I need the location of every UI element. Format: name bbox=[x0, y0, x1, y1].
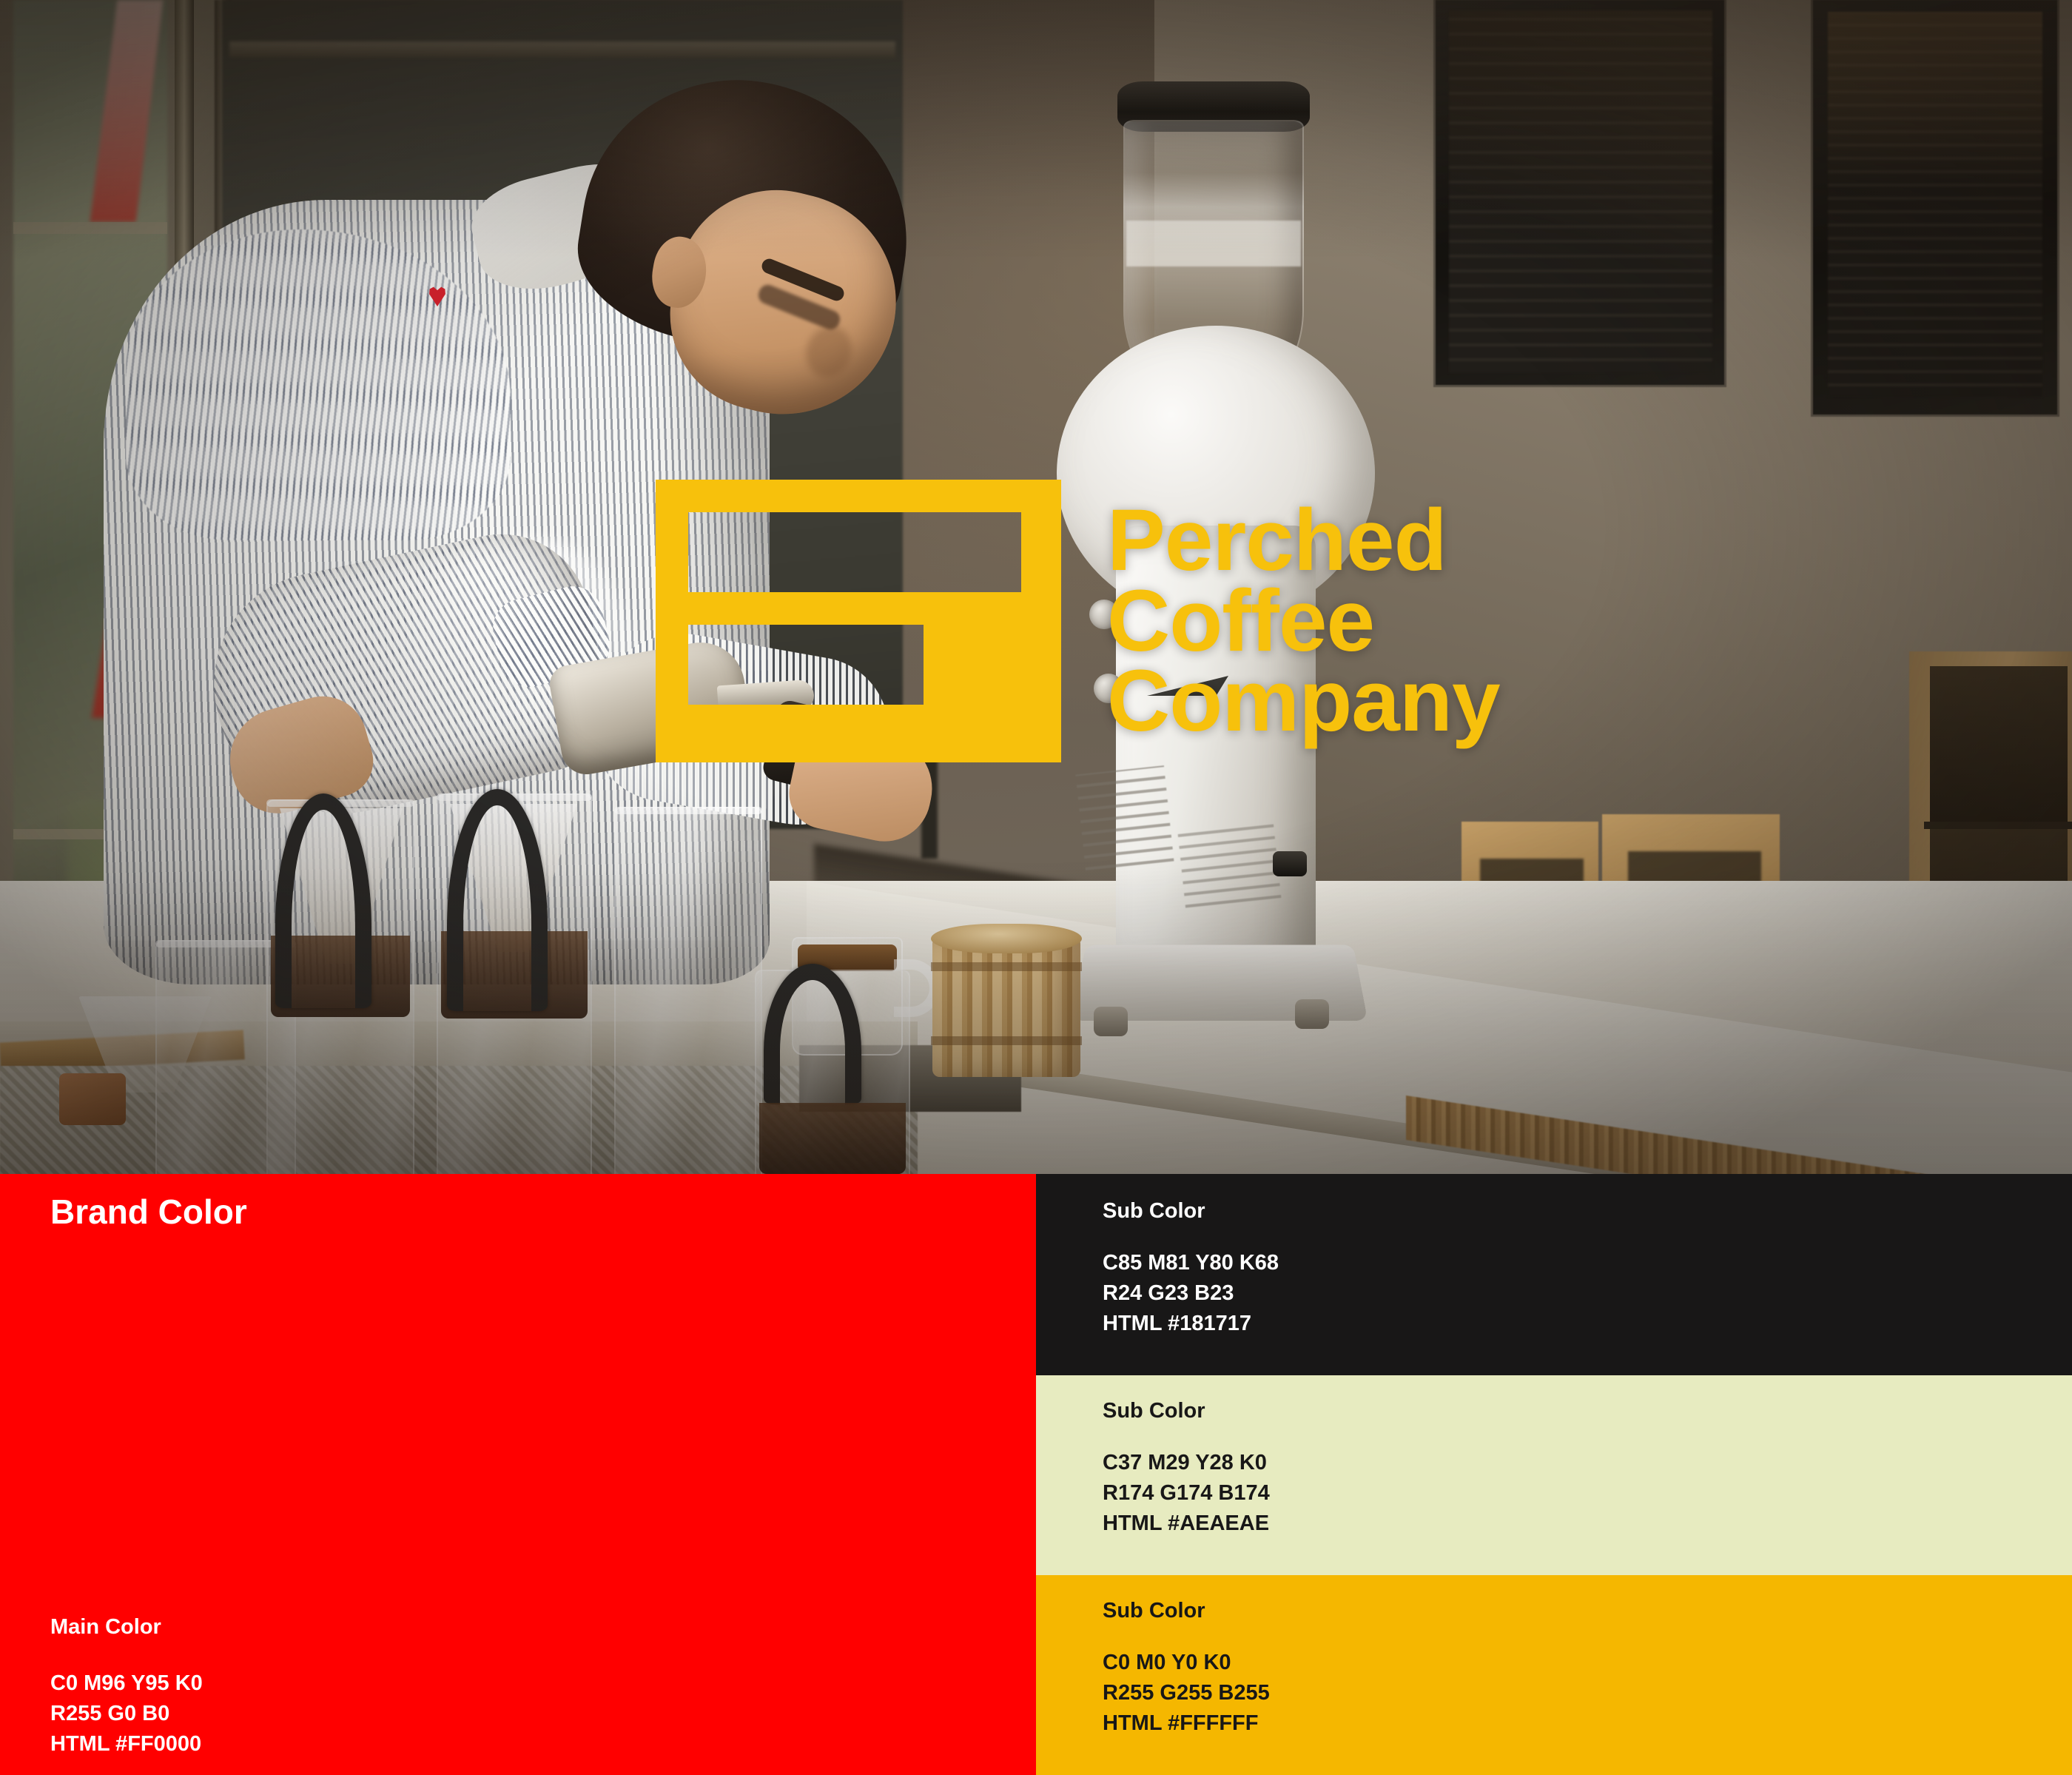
canister-hoop-upper bbox=[931, 962, 1082, 971]
brand-wordmark: Perched Coffee Company bbox=[1107, 500, 1500, 742]
grinder-hopper-frost-band bbox=[1126, 221, 1301, 266]
copper-pot bbox=[59, 1073, 126, 1125]
main-color-rgb: R255 G0 B0 bbox=[50, 1702, 169, 1725]
brand-color-heading: Brand Color bbox=[50, 1192, 247, 1232]
swatch-sub-color-dark: Sub Color C85 M81 Y80 K68R24 G23 B23HTML… bbox=[1036, 1174, 2072, 1375]
sub-color-2-specs: C37 M29 Y28 K0R174 G174 B174HTML #AEAEAE bbox=[1103, 1448, 1270, 1540]
sub-color-1-label: Sub Color bbox=[1103, 1199, 1205, 1224]
grinder-vents-right bbox=[1177, 817, 1282, 908]
glass-carafe-three bbox=[614, 807, 762, 1174]
shelf-divider-top bbox=[1924, 822, 2072, 829]
carafe-four-coffee bbox=[759, 1103, 906, 1174]
main-color-label: Main Color bbox=[50, 1615, 161, 1640]
color-palette-section: Brand Color Main Color C0 M96 Y95 K0R255… bbox=[0, 1174, 2072, 1775]
sub-color-2-cmyk: C37 M29 Y28 K0 bbox=[1103, 1451, 1267, 1474]
wall-art-left-image bbox=[1449, 10, 1712, 373]
shelf-cavity-top bbox=[1930, 666, 2068, 822]
logo-bar-separator-one bbox=[656, 592, 1061, 625]
sub-color-2-label: Sub Color bbox=[1103, 1399, 1205, 1423]
sub-color-1-rgb: R24 G23 B23 bbox=[1103, 1281, 1234, 1305]
sub-color-3-html: HTML #FFFFFF bbox=[1103, 1711, 1258, 1735]
perched-coffee-logo-mark-icon bbox=[656, 480, 1061, 762]
sub-color-3-rgb: R255 G255 B255 bbox=[1103, 1681, 1270, 1705]
swatch-sub-color-yellow: Sub Color C0 M0 Y0 K0R255 G255 B255HTML … bbox=[1036, 1575, 2072, 1775]
wordmark-line-2: Coffee bbox=[1107, 581, 1500, 662]
sub-color-1-specs: C85 M81 Y80 K68R24 G23 B23HTML #181717 bbox=[1103, 1248, 1279, 1340]
logo-frame-top bbox=[656, 480, 1061, 512]
glassware-group bbox=[44, 755, 918, 1174]
grinder-foot-left bbox=[1094, 1007, 1128, 1036]
grinder-vents-left bbox=[1076, 765, 1174, 870]
brand-logo-lockup: Perched Coffee Company bbox=[656, 480, 1500, 762]
grinder-power-switch[interactable] bbox=[1273, 851, 1307, 876]
wooden-canister bbox=[932, 936, 1080, 1077]
main-color-html: HTML #FF0000 bbox=[50, 1732, 201, 1756]
grinder-foot-right bbox=[1295, 999, 1329, 1029]
main-color-specs: C0 M96 Y95 K0R255 G0 B0HTML #FF0000 bbox=[50, 1668, 203, 1760]
logo-bar-one-end-fill bbox=[1021, 512, 1061, 592]
sub-color-1-html: HTML #181717 bbox=[1103, 1312, 1251, 1335]
swatch-brand-main-color: Brand Color Main Color C0 M96 Y95 K0R255… bbox=[0, 1174, 1036, 1775]
wordmark-line-3: Company bbox=[1107, 661, 1500, 742]
sub-color-3-specs: C0 M0 Y0 K0R255 G255 B255HTML #FFFFFF bbox=[1103, 1648, 1270, 1739]
swatch-sub-color-light: Sub Color C37 M29 Y28 K0R174 G174 B174HT… bbox=[1036, 1375, 2072, 1575]
sub-color-3-cmyk: C0 M0 Y0 K0 bbox=[1103, 1651, 1231, 1674]
barista-head bbox=[585, 81, 910, 400]
hero-photo: Perched Coffee Company bbox=[0, 0, 2072, 1174]
logo-bar-two-end-fill bbox=[924, 625, 1061, 705]
sub-color-3-label: Sub Color bbox=[1103, 1599, 1205, 1623]
wooden-canister-lid bbox=[931, 924, 1082, 953]
sub-color-2-rgb: R174 G174 B174 bbox=[1103, 1481, 1270, 1505]
glass-carafe-three-rim bbox=[614, 807, 762, 814]
sub-color-2-html: HTML #AEAEAE bbox=[1103, 1511, 1269, 1535]
logo-bar-separator-two bbox=[656, 705, 1061, 737]
wall-art-right-image bbox=[1828, 12, 2042, 397]
wordmark-line-1: Perched bbox=[1107, 500, 1500, 581]
main-color-cmyk: C0 M96 Y95 K0 bbox=[50, 1671, 203, 1695]
brand-style-guide-page: Perched Coffee Company Brand Color Main … bbox=[0, 0, 2072, 1775]
cabinet-top-ledge bbox=[229, 41, 895, 58]
sub-color-1-cmyk: C85 M81 Y80 K68 bbox=[1103, 1251, 1279, 1275]
canister-hoop-lower bbox=[931, 1036, 1082, 1045]
